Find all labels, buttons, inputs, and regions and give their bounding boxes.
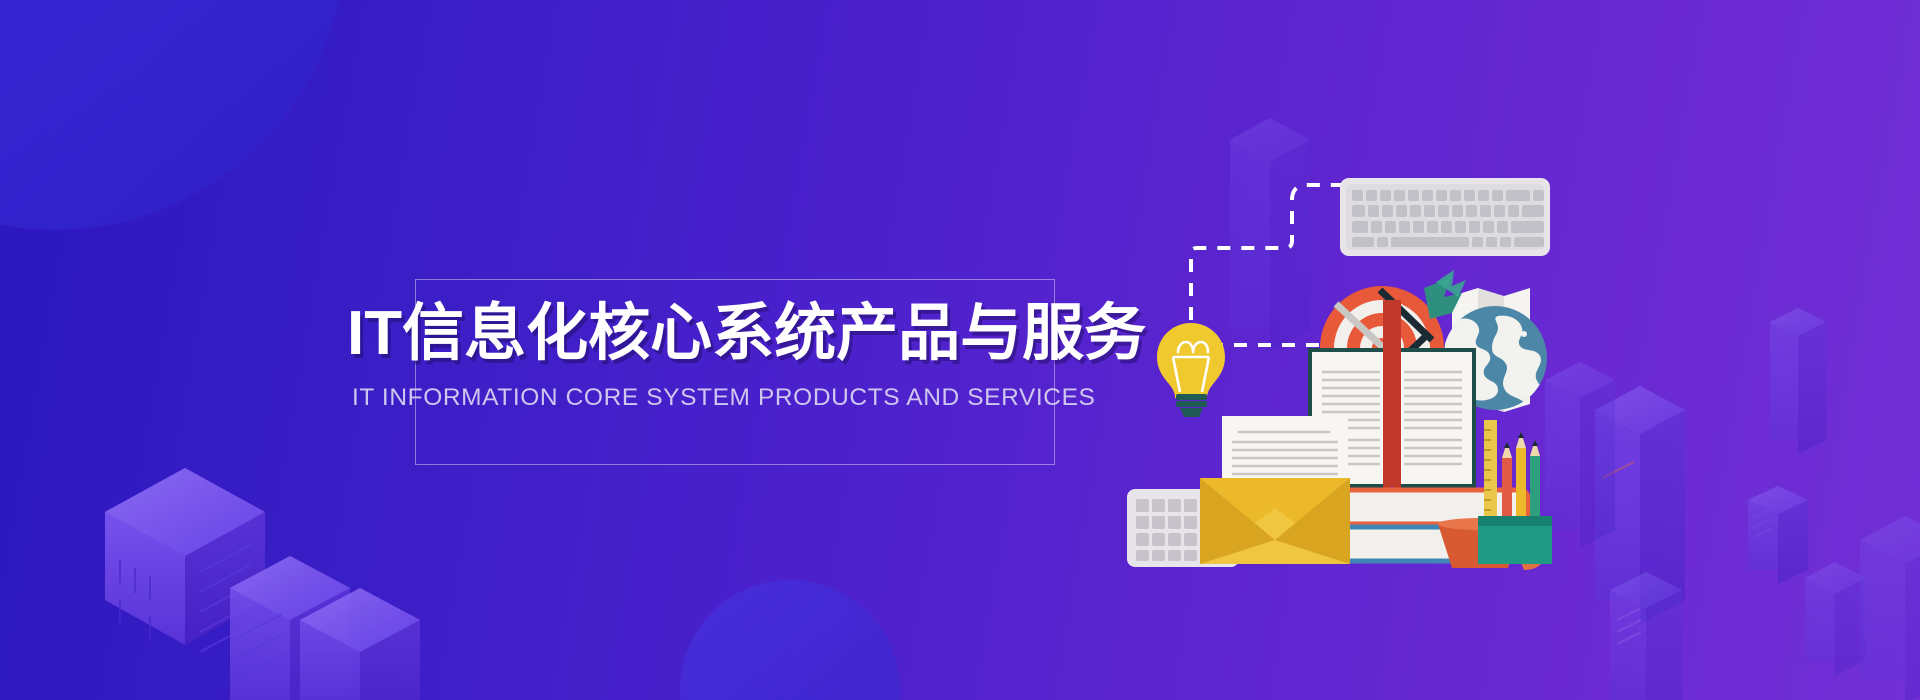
envelope	[1200, 478, 1350, 564]
page-subtitle: IT INFORMATION CORE SYSTEM PRODUCTS AND …	[352, 384, 1112, 412]
keyboard-top	[1340, 178, 1550, 256]
light-bulb	[1157, 323, 1225, 417]
page-title: IT信息化核心系统产品与服务	[347, 303, 1107, 365]
headline-block: IT信息化核心系统产品与服务 IT INFORMATION CORE SYSTE…	[415, 279, 1055, 465]
hero-banner: IT信息化核心系统产品与服务 IT INFORMATION CORE SYSTE…	[0, 0, 1920, 700]
